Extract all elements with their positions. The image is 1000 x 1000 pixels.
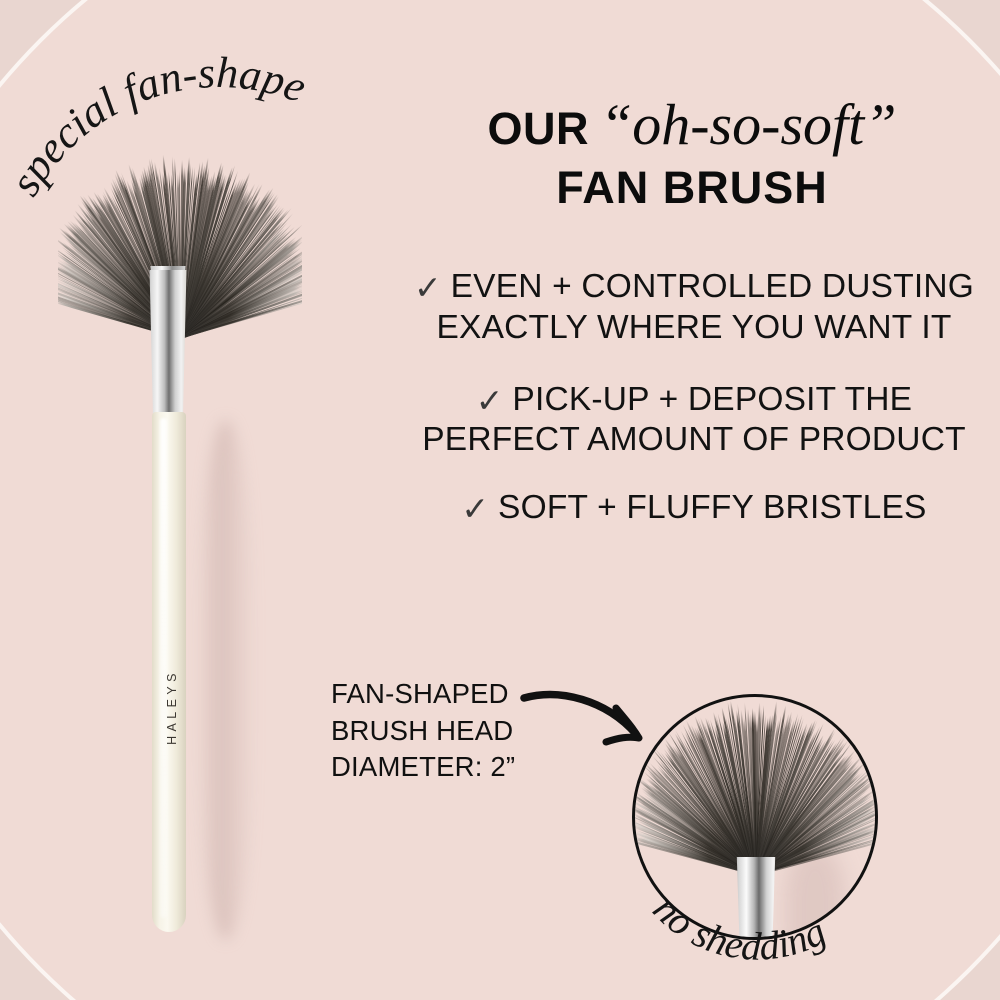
- curved-label-special-fan-shape: special fan-shape: [8, 58, 408, 213]
- curved-label-no-shedding: no shedding: [622, 884, 892, 999]
- callout-line3: DIAMETER: 2”: [331, 749, 515, 786]
- check-icon: ✓: [461, 490, 489, 528]
- benefit-list: ✓EVEN + CONTROLLED DUSTING EXACTLY WHERE…: [388, 268, 1000, 554]
- callout-text: FAN-SHAPED BRUSH HEAD DIAMETER: 2”: [331, 676, 515, 786]
- callout-line1: FAN-SHAPED: [331, 676, 515, 713]
- check-icon: ✓: [476, 382, 504, 420]
- list-item: ✓SOFT + FLUFFY BRISTLES: [388, 489, 1000, 528]
- brand-name-on-handle: HALEYS: [165, 647, 179, 767]
- bullet-line1: PICK-UP + DEPOSIT THE: [512, 381, 912, 418]
- list-item: ✓EVEN + CONTROLLED DUSTING EXACTLY WHERE…: [388, 268, 1000, 347]
- bullet-line2: EXACTLY WHERE YOU WANT IT: [388, 309, 1000, 347]
- headline-emphasis: “oh-so-soft”: [600, 92, 897, 157]
- check-icon: ✓: [414, 269, 442, 307]
- poster-canvas: HALEYS special fan-shape OUR“oh-so-soft”…: [0, 0, 1000, 1000]
- callout-line2: BRUSH HEAD: [331, 713, 515, 750]
- headline-line2: FAN BRUSH: [384, 162, 1000, 214]
- brush-shadow: [196, 420, 256, 940]
- inset-bristles: [632, 694, 878, 875]
- svg-text:special fan-shape: special fan-shape: [0, 48, 313, 204]
- bullet-line1: SOFT + FLUFFY BRISTLES: [498, 489, 927, 526]
- list-item: ✓PICK-UP + DEPOSIT THE PERFECT AMOUNT OF…: [388, 381, 1000, 460]
- headline-prefix: OUR: [487, 103, 589, 154]
- bullet-line1: EVEN + CONTROLLED DUSTING: [451, 268, 974, 305]
- ferrule: [146, 270, 190, 418]
- svg-text:no shedding: no shedding: [645, 886, 833, 969]
- bullet-line2: PERFECT AMOUNT OF PRODUCT: [388, 421, 1000, 459]
- headline: OUR“oh-so-soft” FAN BRUSH: [384, 96, 1000, 214]
